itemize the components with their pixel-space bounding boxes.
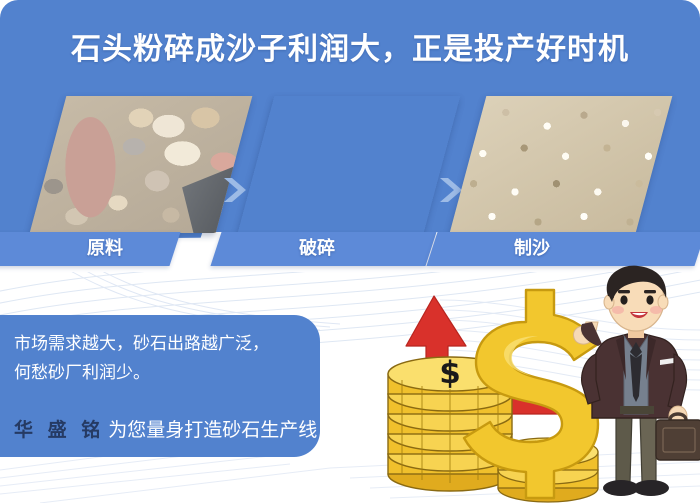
message-line-1: 市场需求越大，砂石出路越广泛， xyxy=(14,330,354,359)
step-1-label: 原料 xyxy=(60,232,150,266)
process-step-2 xyxy=(256,96,442,233)
manufactured-sand-photo xyxy=(450,96,673,233)
page-title: 石头粉碎成沙子利润大，正是投产好时机 xyxy=(0,24,700,68)
promotional-banner: 石头粉碎成沙子利润大，正是投产好时机 原料 破碎 制沙 xyxy=(0,0,700,503)
brand-name: 华 盛 铭 xyxy=(14,419,104,441)
process-step-1 xyxy=(48,96,234,233)
step-2-label: 破碎 xyxy=(272,232,362,266)
brand-tagline: 华 盛 铭为您量身打造砂石生产线 xyxy=(14,415,374,445)
message-text: 市场需求越大，砂石出路越广泛， 何愁砂厂利润少。 xyxy=(14,330,354,388)
raw-material-photo xyxy=(30,96,253,233)
step-3-label: 制沙 xyxy=(487,232,577,266)
process-step-3 xyxy=(468,96,654,233)
business-growth-illustration: $ $ xyxy=(330,262,700,503)
crushed-gravel-photo xyxy=(238,96,461,233)
brand-tagline-text: 为您量身打造砂石生产线 xyxy=(108,419,317,441)
message-line-2: 何愁砂厂利润少。 xyxy=(14,359,354,388)
coin-dollar-symbol: $ xyxy=(439,355,461,391)
